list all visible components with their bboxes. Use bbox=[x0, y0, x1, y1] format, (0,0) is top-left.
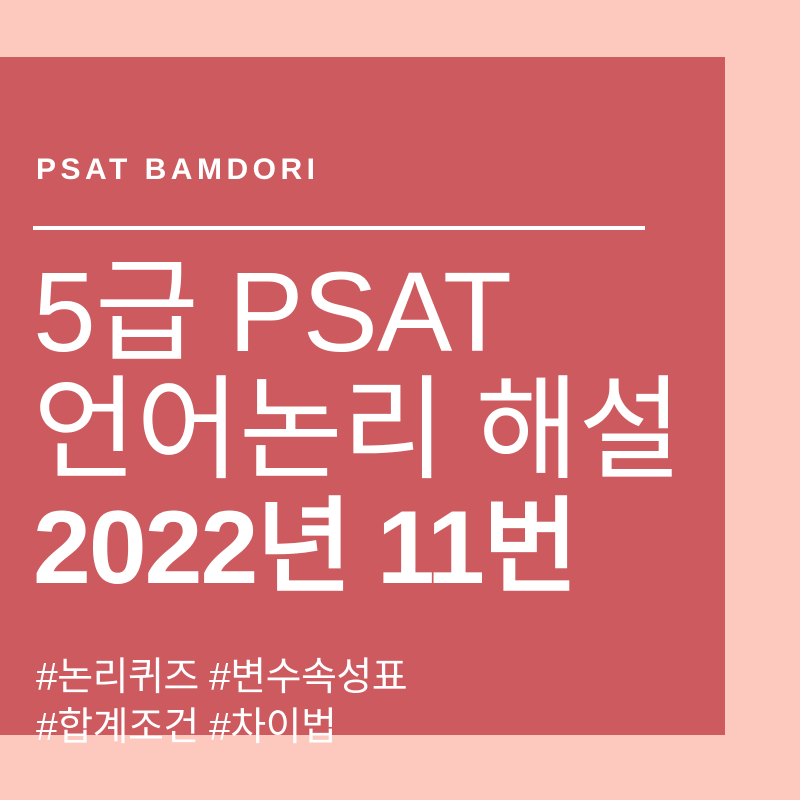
title-line-year-question: 2022년 11번 bbox=[33, 489, 723, 607]
thumbnail-canvas: PSAT BAMDORI 5급 PSAT 언어논리 해설 2022년 11번 #… bbox=[0, 0, 800, 800]
divider-rule bbox=[33, 226, 645, 230]
title-line-exam-level: 5급 PSAT bbox=[33, 253, 723, 371]
hashtag-block: #논리퀴즈 #변수속성표 #합계조건 #차이법 bbox=[36, 653, 407, 753]
hashtag-line-1: #논리퀴즈 #변수속성표 bbox=[36, 653, 407, 703]
red-title-card: PSAT BAMDORI 5급 PSAT 언어논리 해설 2022년 11번 #… bbox=[0, 57, 725, 735]
title-line-subject: 언어논리 해설 bbox=[33, 371, 723, 489]
brand-eyebrow: PSAT BAMDORI bbox=[36, 155, 319, 185]
title-block: 5급 PSAT 언어논리 해설 2022년 11번 bbox=[33, 253, 723, 607]
hashtag-line-2: #합계조건 #차이법 bbox=[36, 703, 407, 753]
